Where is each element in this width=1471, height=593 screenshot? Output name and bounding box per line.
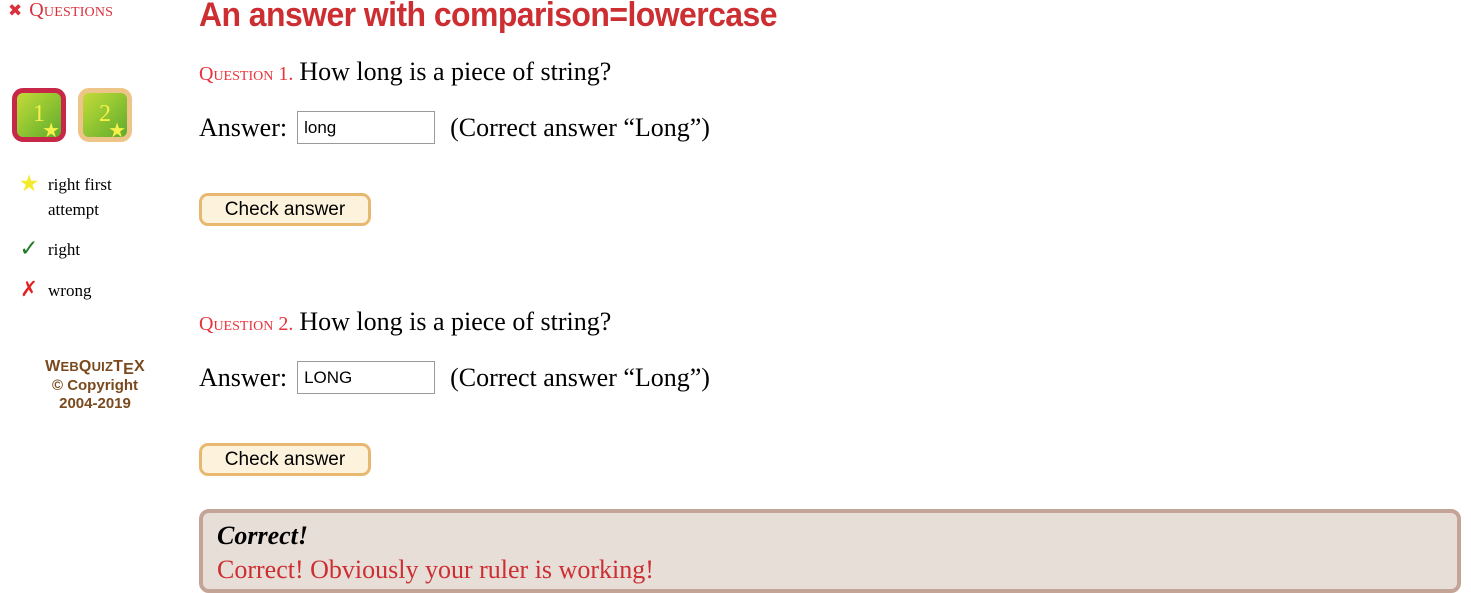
answer-input-1[interactable] bbox=[297, 111, 435, 144]
close-icon[interactable]: ✖ bbox=[8, 3, 22, 20]
question-nav-button-2[interactable]: 2 ★ bbox=[78, 88, 132, 142]
logo-eb: EB bbox=[60, 359, 78, 374]
check-answer-button-1[interactable]: Check answer bbox=[199, 193, 371, 226]
question-2-number: 2. bbox=[278, 313, 293, 335]
legend: ★ right first attempt ✓ right ✗ wrong bbox=[10, 172, 185, 319]
question-2-tag: Question 2. bbox=[199, 313, 293, 336]
question-1-tag: Question 1. bbox=[199, 63, 293, 86]
legend-label: wrong bbox=[48, 278, 91, 304]
correct-answer-note-1: (Correct answer “Long”) bbox=[450, 113, 710, 143]
question-1-line: Question 1. How long is a piece of strin… bbox=[199, 57, 710, 87]
question-1-number: 1. bbox=[278, 63, 293, 85]
answer-input-2[interactable] bbox=[297, 361, 435, 394]
legend-item-right-first-attempt: ★ right first attempt bbox=[10, 172, 185, 222]
legend-item-right: ✓ right bbox=[10, 237, 185, 263]
sidebar: ✖ Questions 1 ★ 2 ★ ★ right first attemp… bbox=[0, 0, 190, 593]
question-2-tag-word: Question bbox=[199, 313, 273, 335]
question-2-text: How long is a piece of string? bbox=[299, 307, 611, 337]
feedback-title: Correct! bbox=[217, 519, 1443, 553]
questions-label: Questions bbox=[29, 0, 113, 20]
webquiztex-logo: WEBQUIZTEX bbox=[0, 357, 190, 377]
answer-label-2: Answer: bbox=[199, 363, 287, 393]
cross-icon: ✗ bbox=[10, 278, 48, 300]
logo-uiz: UIZ bbox=[92, 359, 114, 374]
logo-w: W bbox=[45, 358, 60, 375]
star-icon: ★ bbox=[42, 120, 60, 140]
question-block-2: Question 2. How long is a piece of strin… bbox=[199, 307, 710, 394]
legend-item-wrong: ✗ wrong bbox=[10, 278, 185, 304]
answer-row-2: Answer: (Correct answer “Long”) bbox=[199, 361, 710, 394]
logo-e: E bbox=[123, 360, 134, 380]
legend-label: right first attempt bbox=[48, 172, 148, 222]
copyright-years: 2004-2019 bbox=[0, 395, 190, 413]
questions-header[interactable]: ✖ Questions bbox=[8, 0, 113, 20]
question-block-1: Question 1. How long is a piece of strin… bbox=[199, 57, 710, 144]
logo-q: Q bbox=[79, 358, 92, 375]
correct-answer-note-2: (Correct answer “Long”) bbox=[450, 363, 710, 393]
answer-label-1: Answer: bbox=[199, 113, 287, 143]
question-nav-buttons: 1 ★ 2 ★ bbox=[12, 88, 132, 142]
question-1-tag-word: Question bbox=[199, 63, 273, 85]
main-content: An answer with comparison=lowercase Ques… bbox=[190, 0, 1471, 593]
question-1-text: How long is a piece of string? bbox=[299, 57, 611, 87]
legend-label: right bbox=[48, 237, 80, 263]
answer-row-1: Answer: (Correct answer “Long”) bbox=[199, 111, 710, 144]
check-icon: ✓ bbox=[10, 237, 48, 261]
copyright-line: © Copyright bbox=[0, 377, 190, 395]
star-icon: ★ bbox=[10, 172, 48, 196]
sidebar-footer: WEBQUIZTEX © Copyright 2004-2019 bbox=[0, 357, 190, 413]
star-icon: ★ bbox=[108, 120, 126, 140]
page-title: An answer with comparison=lowercase bbox=[199, 0, 777, 35]
feedback-box: Correct! Correct! Obviously your ruler i… bbox=[199, 509, 1461, 593]
check-answer-button-2[interactable]: Check answer bbox=[199, 443, 371, 476]
logo-x: X bbox=[134, 358, 145, 375]
question-nav-button-1[interactable]: 1 ★ bbox=[12, 88, 66, 142]
feedback-body: Correct! Obviously your ruler is working… bbox=[217, 553, 1443, 587]
logo-t: T bbox=[113, 358, 123, 375]
question-2-line: Question 2. How long is a piece of strin… bbox=[199, 307, 710, 337]
